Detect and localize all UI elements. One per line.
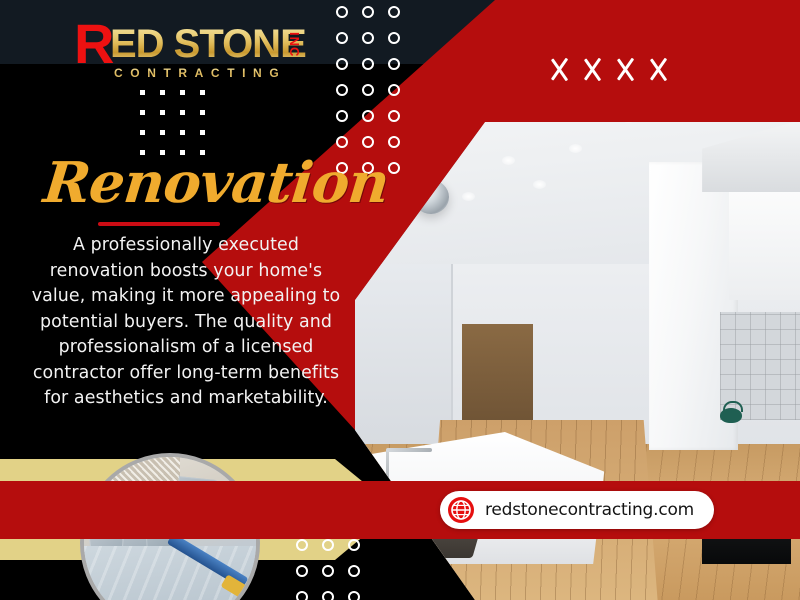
page-title: Renovation: [41, 152, 348, 214]
chevron-group: [561, 40, 701, 98]
logo-wordmark: ED STONE: [110, 23, 306, 65]
dot-grid-square: [140, 90, 205, 155]
logo-initial: R: [74, 18, 111, 70]
dot-grid-top: [336, 6, 400, 174]
chevron-left-icon: [627, 45, 657, 93]
website-url: redstonecontracting.com: [485, 500, 694, 520]
logo-tagline: CONTRACTING: [114, 66, 286, 80]
chevron-left-icon: [660, 45, 690, 93]
brand-logo: R ED STONE CONTRACTING INC: [74, 18, 324, 74]
chevron-left-icon: [594, 45, 624, 93]
website-pill[interactable]: redstonecontracting.com: [440, 491, 714, 529]
poster-canvas: R ED STONE CONTRACTING INC Renovation A …: [0, 0, 800, 600]
globe-icon: [448, 497, 474, 523]
title-underline: [98, 222, 220, 226]
logo-suffix: INC: [287, 32, 302, 57]
body-paragraph: A professionally executed renovation boo…: [24, 233, 348, 412]
chevron-left-icon: [561, 45, 591, 93]
